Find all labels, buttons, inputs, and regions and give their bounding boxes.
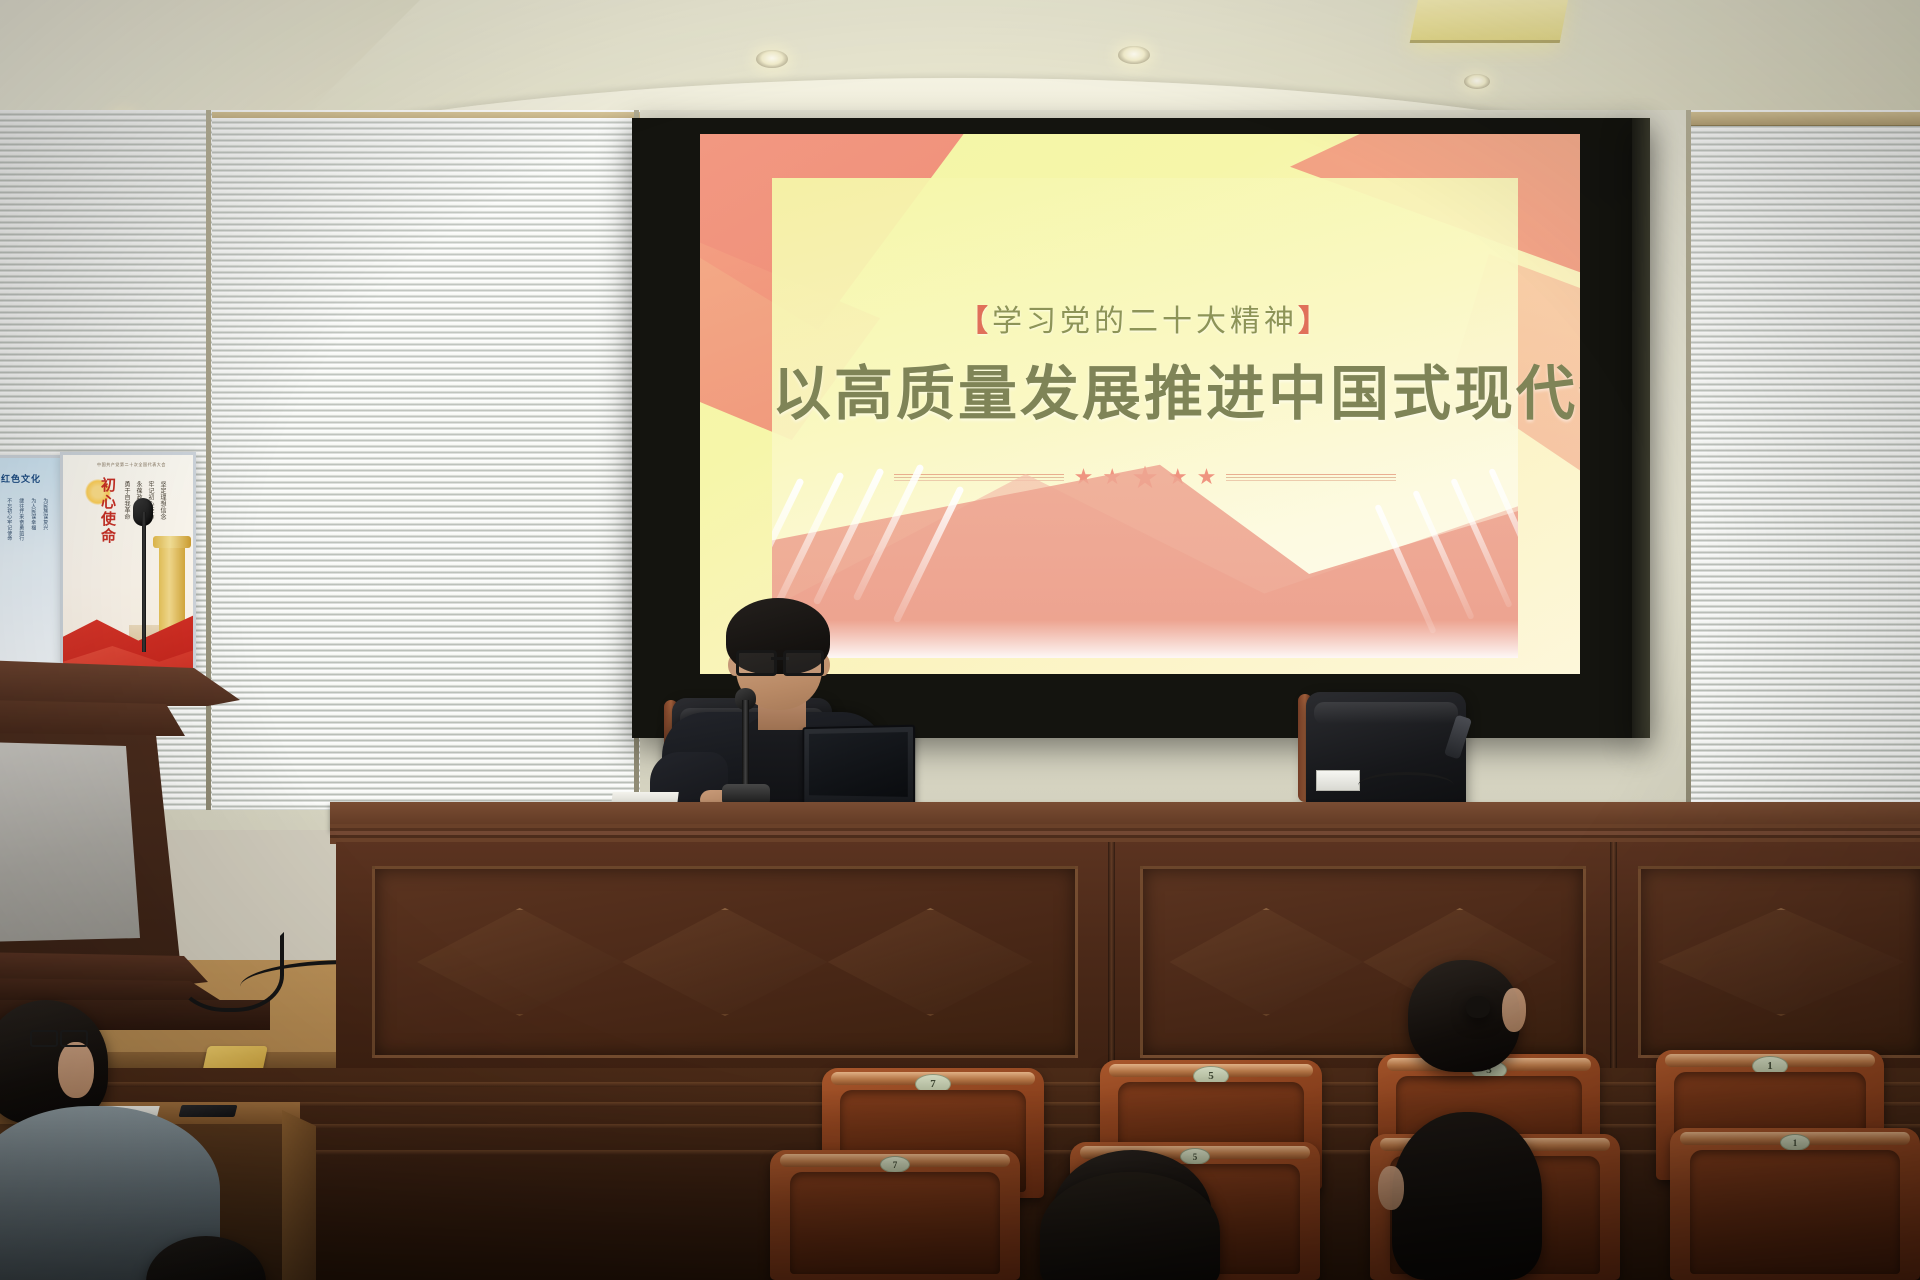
- diamond-motif: [622, 908, 827, 1016]
- poster-right-title: 初心使命: [97, 477, 118, 545]
- downlight-icon: [1118, 46, 1150, 64]
- poster-left-line: 为人民谋幸福: [29, 498, 36, 628]
- wall-poster-right: 中国共产党第二十次全国代表大会 初心使命 坚定理想信念 牢记初心使命 永葆政治本…: [60, 452, 196, 678]
- wall-divider: [1686, 110, 1691, 810]
- smartphone: [179, 1105, 238, 1117]
- audience-head: [1040, 1172, 1220, 1280]
- seat-back: [790, 1172, 1000, 1274]
- audience-face: [58, 1042, 94, 1098]
- ceiling-light-panel: [1410, 0, 1571, 43]
- downlight-icon: [1464, 74, 1490, 89]
- laptop-screen: [809, 732, 908, 797]
- star-icon: ★: [1197, 466, 1217, 488]
- glasses-lens-left: [736, 650, 777, 676]
- audience-seat[interactable]: 1: [1670, 1128, 1920, 1280]
- head-table-seam: [1108, 842, 1115, 1074]
- seat-number-badge: 5: [1180, 1148, 1210, 1165]
- seat-number-badge: 7: [880, 1156, 910, 1173]
- audience-ear: [1502, 988, 1526, 1032]
- wall-trim: [1690, 112, 1920, 126]
- downlight-icon: [756, 50, 788, 68]
- head-table-panel: [372, 866, 1078, 1058]
- projection-screen-frame-edge: [1632, 118, 1650, 738]
- laptop: [802, 725, 915, 808]
- glasses-lens-right: [783, 650, 824, 676]
- diamond-motif: [1169, 908, 1363, 1016]
- slide-content-card: 【学习党的二十大精神】 以高质量发展推进中国式现代化 ★ ★ ★ ★ ★: [772, 178, 1518, 658]
- wall-poster-left: 红色文化 不忘初心牢记使命 继往开来奋勇前行 为人民谋幸福 为民族谋复兴: [0, 455, 66, 676]
- wall-slat-panel-right: [1690, 110, 1920, 810]
- ray-icon: [813, 467, 885, 605]
- poster-left-line: 不忘初心牢记使命: [5, 498, 12, 648]
- lectern-front-panel: [0, 742, 140, 942]
- cable: [1358, 772, 1454, 799]
- slide-bottom-fade: [772, 620, 1518, 658]
- glasses-icon: [30, 1030, 88, 1043]
- ray-icon: [773, 471, 845, 609]
- ray-icon: [1488, 468, 1518, 598]
- head-table-moulding: [330, 824, 1920, 844]
- seat-back: [1690, 1150, 1900, 1274]
- diamond-motif: [417, 908, 622, 1016]
- lectern-neck: [0, 700, 185, 736]
- audience-head: [1392, 1112, 1542, 1280]
- poster-left-line: 继往开来奋勇前行: [17, 498, 24, 648]
- diamond-motif: [1658, 908, 1904, 1016]
- slide-subtitle-text: 学习党的二十大精神: [992, 305, 1298, 338]
- diamond-motif: [828, 908, 1033, 1016]
- presentation-slide: 【学习党的二十大精神】 以高质量发展推进中国式现代化 ★ ★ ★ ★ ★: [700, 134, 1580, 674]
- poster-right-top-line: 中国共产党第二十次全国代表大会: [97, 462, 166, 468]
- wall-slat-panel-center-left: [212, 118, 640, 808]
- head-table-seam: [1610, 842, 1617, 1074]
- conference-hall-scene: 【学习党的二十大精神】 以高质量发展推进中国式现代化 ★ ★ ★ ★ ★: [0, 0, 1920, 1280]
- microphone-stand: [142, 512, 146, 652]
- glasses-temple-icon: [1466, 996, 1490, 1018]
- audience-ear: [1378, 1166, 1404, 1210]
- poster-left-line: 为民族谋复兴: [41, 498, 48, 628]
- panel-diamond-row: [417, 910, 1033, 1014]
- panel-diamond-row: [1658, 910, 1904, 1014]
- name-card: [1316, 770, 1360, 791]
- bracket-open-glyph: 【: [958, 305, 992, 338]
- audience-seat[interactable]: 7: [770, 1150, 1020, 1280]
- bracket-close-glyph: 】: [1298, 305, 1332, 338]
- poster-right-line: 坚定理想信念: [157, 481, 166, 520]
- audience-desk-side: [282, 1110, 316, 1280]
- head-table-panel: [1638, 866, 1920, 1058]
- slide-subtitle: 【学习党的二十大精神】: [772, 296, 1518, 340]
- seat-number-badge: 1: [1780, 1134, 1810, 1151]
- slide-title: 以高质量发展推进中国式现代化: [772, 346, 1518, 431]
- poster-left-heading: 红色文化: [1, 472, 41, 485]
- glasses-icon: [736, 650, 824, 670]
- poster-right-line: 勇于自我革命: [121, 481, 130, 520]
